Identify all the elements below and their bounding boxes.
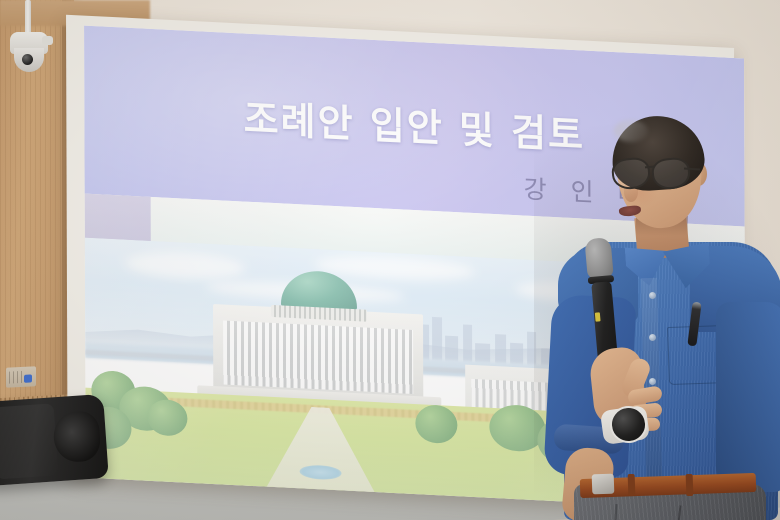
- camera-mounting-pole: [25, 0, 31, 36]
- belt-buckle: [592, 474, 615, 495]
- shirt-button: [649, 334, 656, 341]
- glasses-icon: [612, 158, 708, 186]
- screenshot-root: 조례안 입안 및 검토 강 인 태 국민을 지키는 미래로 나아가는 국회: [0, 0, 780, 520]
- glasses-lens-left: [611, 156, 652, 190]
- speaker-driver: [52, 410, 101, 463]
- security-camera-icon: [6, 0, 54, 86]
- shirt-button: [649, 378, 656, 385]
- belt-loop: [686, 474, 694, 496]
- microphone-led: [595, 312, 601, 321]
- presenter-sleeve-right: [716, 302, 780, 492]
- belt-loop: [628, 474, 636, 496]
- speaker-cabinet-highlight: [0, 403, 58, 479]
- wall-control-panel[interactable]: [6, 366, 36, 388]
- presenter: [540, 96, 780, 520]
- glasses-lens-right: [651, 156, 692, 190]
- camera-lens: [22, 54, 33, 65]
- floor-loudspeaker: [0, 394, 109, 486]
- camera-arm: [42, 36, 53, 45]
- panel-button[interactable]: [24, 374, 32, 382]
- shirt-button: [649, 292, 656, 299]
- panel-grille: [9, 371, 25, 384]
- presenter-hair-highlight: [614, 120, 648, 142]
- microphone-head: [584, 237, 613, 279]
